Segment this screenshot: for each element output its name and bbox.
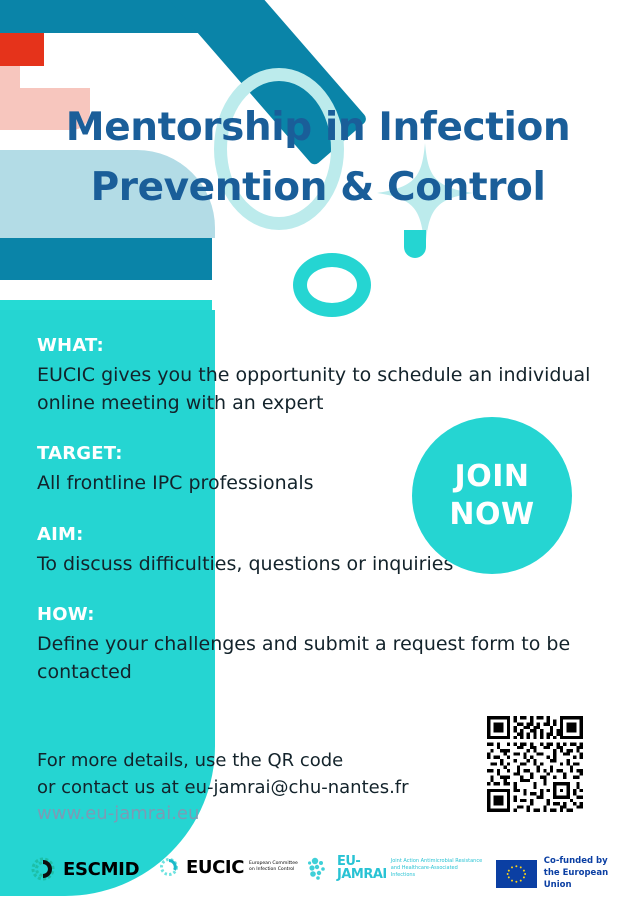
teal-ring-icon: [293, 253, 371, 317]
contact-line-qr: For more details, use the QR code: [37, 748, 409, 775]
jamrai-tagline: Joint Action Antimicrobial Resistance an…: [391, 858, 483, 879]
footer-logos: ESCMID EUCIC European Committee on Infec…: [0, 846, 636, 906]
join-now-line-1: JOIN: [455, 458, 530, 496]
dark-teal-bar: [0, 238, 212, 280]
page-title: Mentorship in Infection Prevention & Con…: [0, 98, 636, 219]
logo-european-union[interactable]: Co-funded by the European Union: [496, 856, 636, 892]
section-body-how: Define your challenges and submit a requ…: [37, 631, 597, 686]
join-now-button[interactable]: JOIN NOW: [412, 417, 572, 574]
section-body-what: EUCIC gives you the opportunity to sched…: [37, 362, 597, 417]
jamrai-molecule-icon: [308, 855, 334, 881]
qr-code[interactable]: [487, 716, 583, 812]
eucic-tagline: European Committee on Infection Control: [249, 861, 301, 873]
logo-escmid[interactable]: ESCMID: [30, 856, 139, 882]
escmid-wordmark: ESCMID: [63, 859, 139, 880]
logo-eu-jamrai[interactable]: EU- JAMRAI Joint Action Antimicrobial Re…: [308, 855, 483, 881]
escmid-gear-icon: [30, 856, 56, 882]
jamrai-wordmark-line2: JAMRAI: [337, 868, 387, 881]
title-line-1: Mentorship in Infection: [0, 98, 636, 158]
join-now-line-2: NOW: [449, 496, 534, 534]
section-what: WHAT: EUCIC gives you the opportunity to…: [37, 335, 612, 417]
eu-funding-line1: Co-funded by: [544, 856, 636, 868]
section-label-how: HOW:: [37, 604, 612, 625]
red-block: [0, 33, 44, 66]
contact-website-link[interactable]: www.eu-jamrai.eu: [37, 801, 409, 828]
contact-block: For more details, use the QR code or con…: [37, 748, 409, 828]
teal-strip: [0, 300, 212, 310]
eu-funding-line2: the European Union: [544, 868, 636, 892]
eucic-dots-icon: [158, 856, 180, 878]
eucic-wordmark: EUCIC: [186, 857, 244, 878]
poster-canvas: Mentorship in Infection Prevention & Con…: [0, 0, 636, 906]
sparkle-tail-icon: [404, 230, 426, 258]
section-label-what: WHAT:: [37, 335, 612, 356]
section-how: HOW: Define your challenges and submit a…: [37, 604, 612, 686]
eu-flag-icon: [496, 860, 537, 888]
title-line-2: Prevention & Control: [0, 158, 636, 218]
contact-line-email[interactable]: or contact us at eu-jamrai@chu-nantes.fr: [37, 775, 409, 802]
logo-eucic[interactable]: EUCIC European Committee on Infection Co…: [158, 856, 301, 878]
